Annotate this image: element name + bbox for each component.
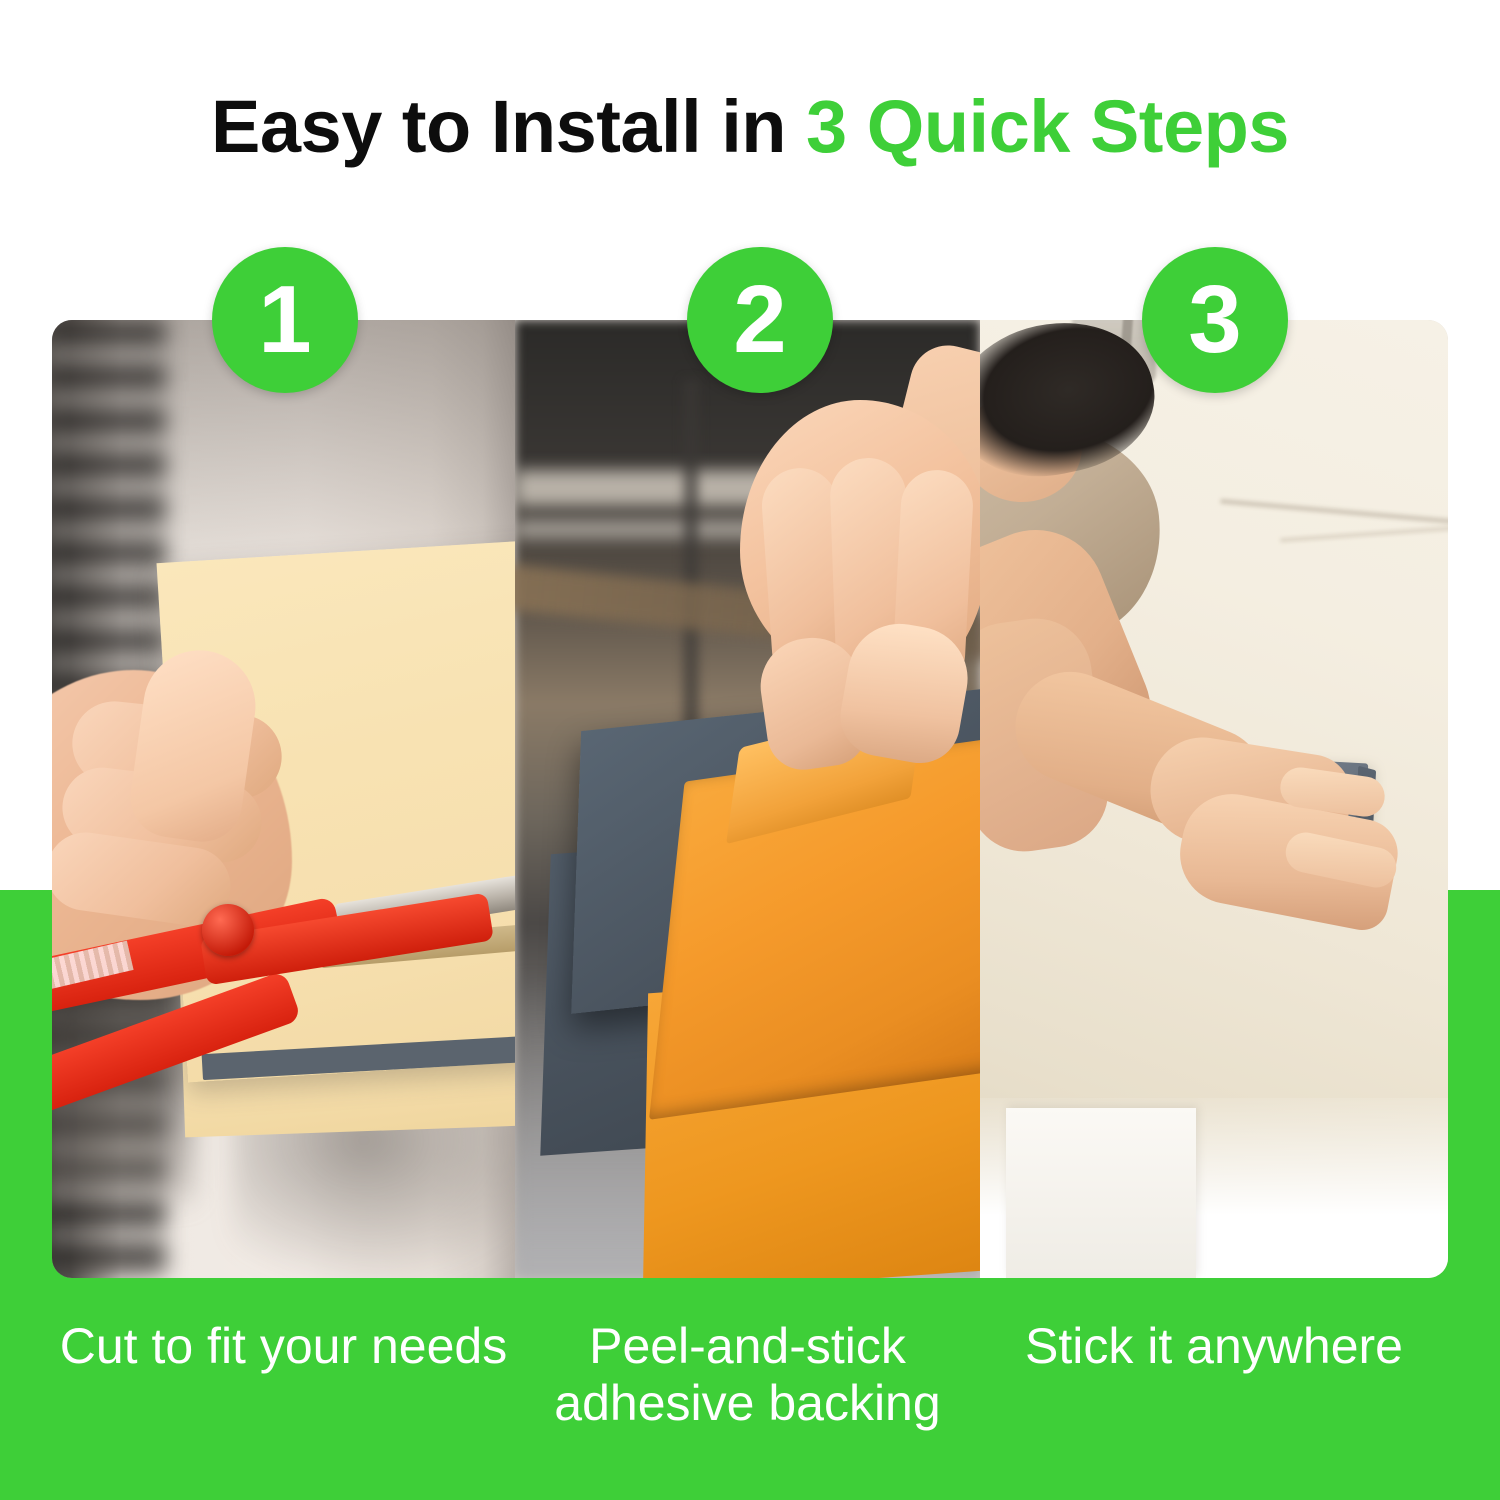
- step-1-photo: [52, 320, 515, 1278]
- step-caption-1: Cut to fit your needs: [52, 1318, 515, 1375]
- step-badge-2: 2: [687, 247, 833, 393]
- steps-photo-strip: [52, 320, 1448, 1278]
- step-caption-3: Stick it anywhere: [980, 1318, 1448, 1375]
- headline-accent: 3 Quick Steps: [806, 85, 1289, 168]
- page-title: Easy to Install in 3 Quick Steps: [0, 88, 1500, 166]
- headline-lead: Easy to Install in: [211, 85, 806, 168]
- step-caption-2: Peel-and-stick adhesive backing: [515, 1318, 980, 1432]
- step-2-photo: [515, 320, 980, 1278]
- step-badge-1: 1: [212, 247, 358, 393]
- step-1-scissor-pivot: [202, 904, 254, 956]
- step-badge-3: 3: [1142, 247, 1288, 393]
- step-3-photo: [980, 320, 1448, 1278]
- infographic-page: Easy to Install in 3 Quick Steps: [0, 0, 1500, 1500]
- step-3-counter-ledge: [1006, 1108, 1196, 1278]
